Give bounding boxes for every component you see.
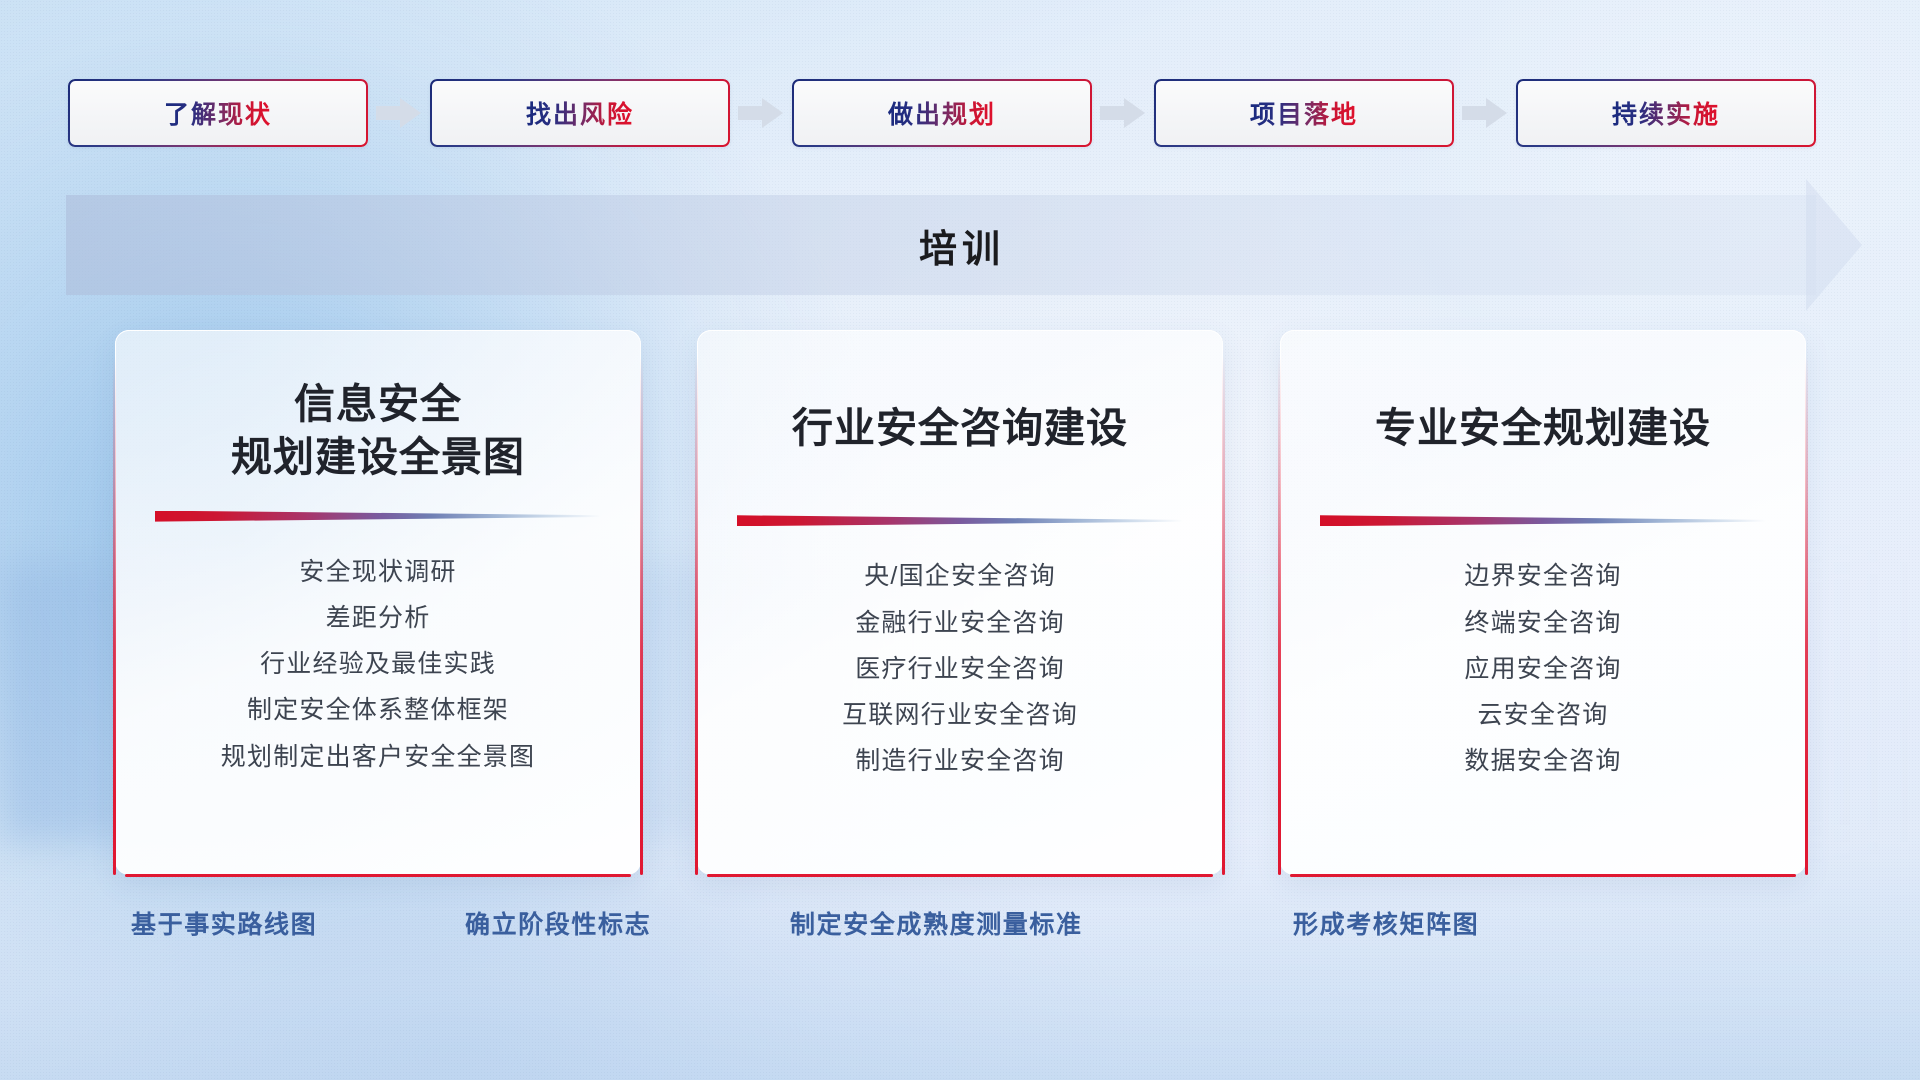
step-label-2: 做出规划 <box>888 95 996 131</box>
list-item: 医疗行业安全咨询 <box>855 649 1065 690</box>
card-divider <box>737 515 1183 526</box>
step-item-0[interactable]: 了解现状 <box>68 79 368 147</box>
caption-row: 基于事实路线图 确立阶段性标志 制定安全成熟度测量标准 形成考核矩阵图 <box>0 905 1920 965</box>
list-item: 边界安全咨询 <box>1464 556 1621 597</box>
caption-2: 制定安全成熟度测量标准 <box>790 905 1083 941</box>
list-item: 互联网行业安全咨询 <box>842 695 1078 736</box>
list-item: 制定安全体系整体框架 <box>247 690 509 731</box>
list-item: 安全现状调研 <box>299 552 456 593</box>
step-label-3: 项目落地 <box>1250 95 1358 131</box>
arrow-right-icon <box>738 98 784 128</box>
list-item: 制造行业安全咨询 <box>855 741 1065 782</box>
arrow-right-icon <box>1462 98 1508 128</box>
list-item: 金融行业安全咨询 <box>855 603 1065 644</box>
card-item-list: 边界安全咨询 终端安全咨询 应用安全咨询 云安全咨询 数据安全咨询 <box>1464 556 1621 782</box>
card-professional-security-planning[interactable]: 专业安全规划建设 边界安全咨询 终端安全咨询 应用安全咨询 云安全咨询 数据安全… <box>1280 330 1806 875</box>
banner-title: 培训 <box>66 195 1858 295</box>
step-item-4[interactable]: 持续实施 <box>1516 79 1816 147</box>
card-title-line: 规划建设全景图 <box>231 431 525 484</box>
arrow-right-icon <box>376 98 422 128</box>
step-label-1: 找出风险 <box>526 95 634 131</box>
card-title: 信息安全 规划建设全景图 <box>231 378 525 485</box>
card-information-security-blueprint[interactable]: 信息安全 规划建设全景图 安全现状调研 差距分析 行业经验及最佳实践 制定安全体… <box>115 330 641 875</box>
card-industry-security-consulting[interactable]: 行业安全咨询建设 央/国企安全咨询 金融行业安全咨询 医疗行业安全咨询 互联网行… <box>697 330 1223 875</box>
caption-1: 确立阶段性标志 <box>465 905 651 941</box>
caption-0: 基于事实路线图 <box>131 905 317 941</box>
step-item-1[interactable]: 找出风险 <box>430 79 730 147</box>
list-item: 行业经验及最佳实践 <box>260 644 496 685</box>
list-item: 应用安全咨询 <box>1464 649 1621 690</box>
card-title-line: 专业安全规划建设 <box>1375 402 1711 455</box>
caption-3: 形成考核矩阵图 <box>1293 905 1479 941</box>
arrow-right-icon <box>1100 98 1146 128</box>
card-item-list: 央/国企安全咨询 金融行业安全咨询 医疗行业安全咨询 互联网行业安全咨询 制造行… <box>842 556 1078 782</box>
training-banner: 培训 <box>66 195 1858 295</box>
card-group: 信息安全 规划建设全景图 安全现状调研 差距分析 行业经验及最佳实践 制定安全体… <box>0 330 1920 890</box>
step-label-4: 持续实施 <box>1612 95 1720 131</box>
card-title-line: 行业安全咨询建设 <box>792 402 1128 455</box>
step-item-2[interactable]: 做出规划 <box>792 79 1092 147</box>
card-divider <box>155 511 601 522</box>
card-divider <box>1320 515 1766 526</box>
card-title: 专业安全规划建设 <box>1375 402 1711 455</box>
step-label-0: 了解现状 <box>164 95 272 131</box>
list-item: 终端安全咨询 <box>1464 603 1621 644</box>
process-step-flow: 了解现状 找出风险 做出规划 项目落地 持续实施 <box>68 78 1858 148</box>
list-item: 央/国企安全咨询 <box>864 556 1056 597</box>
step-item-3[interactable]: 项目落地 <box>1154 79 1454 147</box>
card-title: 行业安全咨询建设 <box>792 402 1128 455</box>
card-item-list: 安全现状调研 差距分析 行业经验及最佳实践 制定安全体系整体框架 规划制定出客户… <box>221 552 535 778</box>
list-item: 规划制定出客户安全全景图 <box>221 737 535 778</box>
list-item: 差距分析 <box>326 598 431 639</box>
card-title-line: 信息安全 <box>231 378 525 431</box>
list-item: 数据安全咨询 <box>1464 741 1621 782</box>
list-item: 云安全咨询 <box>1477 695 1608 736</box>
